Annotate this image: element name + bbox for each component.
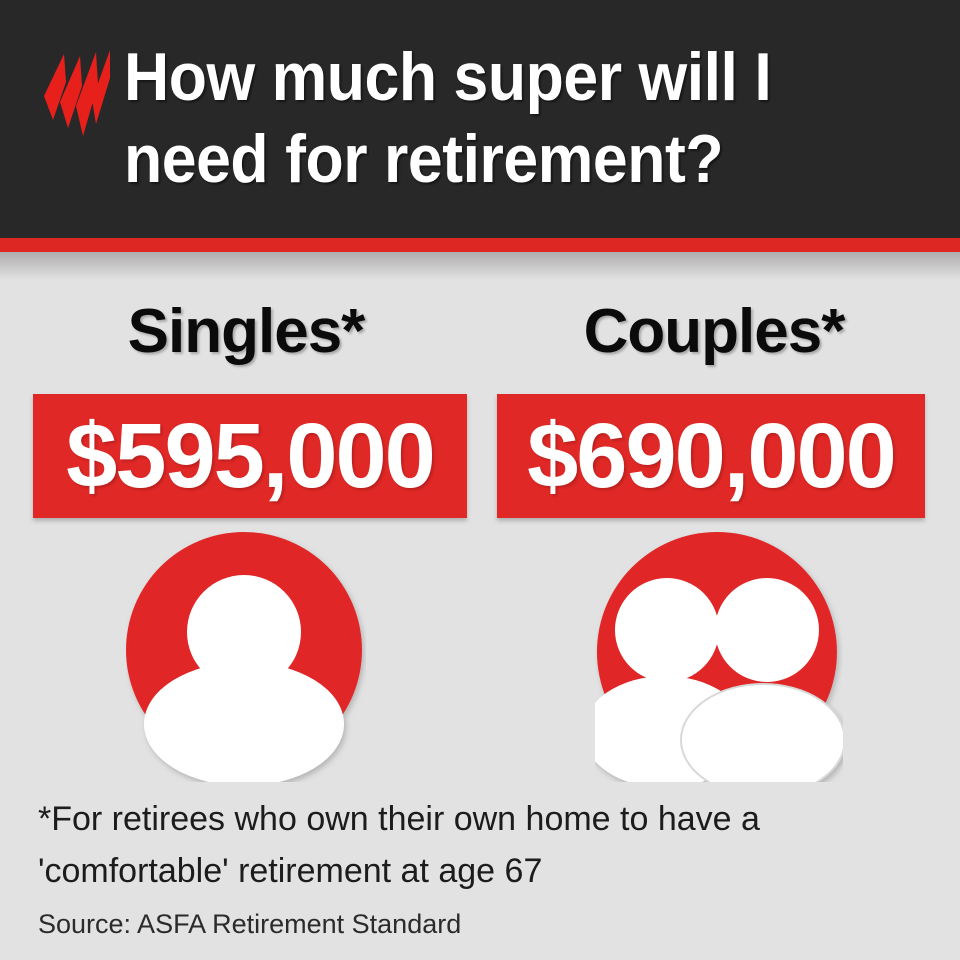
value-box-couples: $690,000 bbox=[497, 394, 925, 518]
column-heading-singles: Singles* bbox=[22, 296, 470, 368]
icon-wrap-singles bbox=[22, 532, 470, 788]
footnote-line-2: 'comfortable' retirement at age 67 bbox=[38, 845, 918, 897]
column-singles: Singles* $595,000 bbox=[22, 280, 470, 800]
page-title-line-2: need for retirement? bbox=[124, 118, 860, 200]
single-person-icon bbox=[126, 532, 366, 782]
value-amount-singles: $595,000 bbox=[66, 408, 434, 504]
sbs-flame-logo-icon bbox=[36, 44, 114, 142]
column-couples: Couples* $690,000 bbox=[490, 280, 938, 800]
value-box-singles: $595,000 bbox=[33, 394, 467, 518]
column-heading-couples: Couples* bbox=[490, 296, 938, 368]
footnote-line-1: *For retirees who own their own home to … bbox=[38, 793, 918, 845]
value-amount-couples: $690,000 bbox=[527, 408, 895, 504]
divider-shadow bbox=[0, 252, 960, 280]
source-attribution: Source: ASFA Retirement Standard bbox=[38, 907, 918, 941]
page-title-line-1: How much super will I bbox=[124, 36, 860, 118]
page-title: How much super will I need for retiremen… bbox=[124, 36, 924, 200]
comparison-columns: Singles* $595,000 bbox=[0, 280, 960, 800]
couple-person-icon bbox=[595, 532, 843, 782]
header-bar: How much super will I need for retiremen… bbox=[0, 0, 960, 238]
icon-wrap-couples bbox=[490, 532, 938, 788]
infographic-canvas: How much super will I need for retiremen… bbox=[0, 0, 960, 960]
footnote-block: *For retirees who own their own home to … bbox=[38, 793, 918, 941]
accent-divider bbox=[0, 238, 960, 252]
